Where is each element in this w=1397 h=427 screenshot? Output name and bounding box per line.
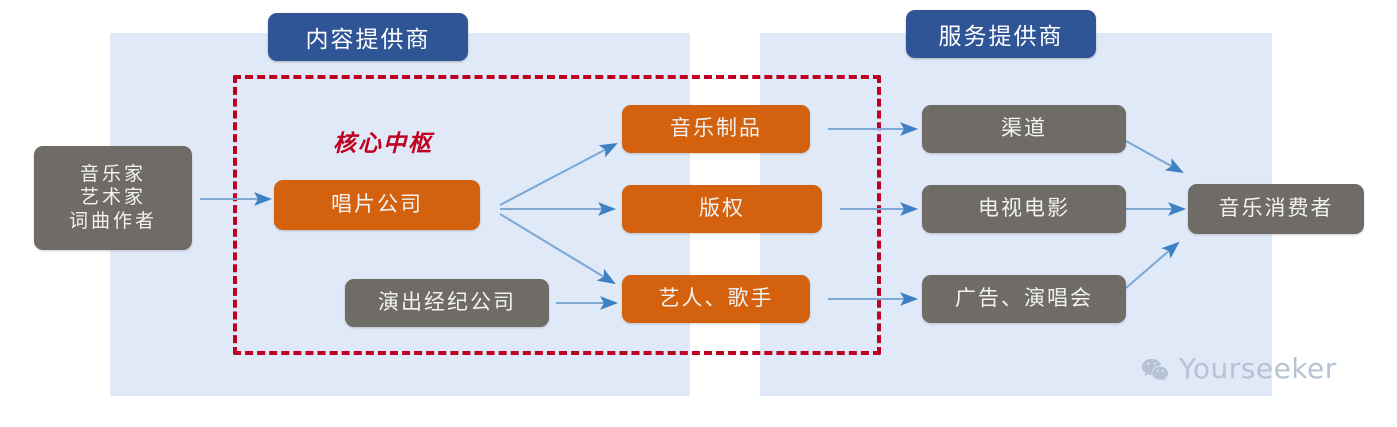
node-creators: 音乐家 艺术家 词曲作者 [34,146,192,250]
header-badge-service-provider: 服务提供商 [906,10,1096,58]
node-creators-line-2: 艺术家 [80,186,146,209]
node-music-consumers: 音乐消费者 [1188,184,1364,234]
node-ads-concerts: 广告、演唱会 [922,275,1126,323]
node-creators-line-1: 音乐家 [80,163,146,186]
node-artists-singers: 艺人、歌手 [622,275,810,323]
arrow-record-to-products [500,144,616,205]
watermark: Yourseeker [1140,352,1337,385]
node-tv-film: 电视电影 [922,185,1126,233]
core-hub-annotation: 核心中枢 [333,124,433,158]
node-copyright: 版权 [622,185,822,233]
arrow-channels-to-consumers [1126,141,1182,172]
watermark-label: Yourseeker [1179,352,1337,385]
diagram-canvas: 内容提供商 服务提供商 核心中枢 音乐家 艺术家 词曲作者 唱片公司 演出经纪公… [0,0,1397,427]
arrow-record-to-artists [500,214,614,283]
node-performance-agency: 演出经纪公司 [345,279,549,327]
node-creators-line-3: 词曲作者 [69,210,157,233]
node-music-products: 音乐制品 [622,105,810,153]
node-record-company: 唱片公司 [274,180,480,230]
wechat-icon [1140,354,1170,384]
node-channels: 渠道 [922,105,1126,153]
header-badge-content-provider: 内容提供商 [268,13,468,61]
arrow-ads-to-consumers [1126,243,1178,288]
